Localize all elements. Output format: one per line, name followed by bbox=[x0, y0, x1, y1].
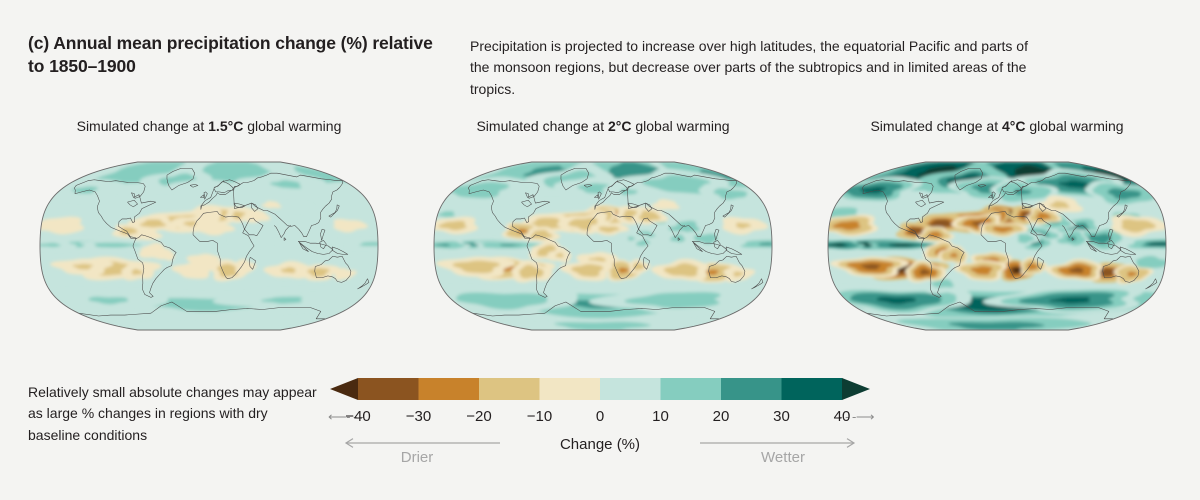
map-subtitle: Simulated change at 2°C global warming bbox=[412, 116, 794, 136]
colorbar-tick-label: 0 bbox=[596, 408, 604, 425]
colorbar-band bbox=[540, 378, 601, 400]
map-subtitle-prefix: Simulated change at bbox=[77, 118, 209, 134]
map-panel-4c: Simulated change at 4°C global warming bbox=[806, 116, 1188, 352]
map-globe-4c bbox=[808, 142, 1186, 352]
map-warming-level: 4°C bbox=[1002, 118, 1026, 134]
colorbar-band bbox=[358, 378, 419, 400]
colorbar-tick-label: −20 bbox=[466, 408, 491, 425]
colorbar-tick-label: −40 bbox=[345, 408, 370, 425]
map-field bbox=[414, 142, 792, 352]
colorbar-swatches bbox=[330, 372, 870, 406]
map-subtitle-prefix: Simulated change at bbox=[870, 118, 1002, 134]
direction-label-drier: Drier bbox=[332, 449, 502, 466]
figure-description: Precipitation is projected to increase o… bbox=[470, 36, 1030, 100]
map-globe-1p5c bbox=[20, 142, 398, 352]
map-subtitle-suffix: global warming bbox=[243, 118, 341, 134]
map-warming-level: 1.5°C bbox=[208, 118, 243, 134]
page-title: (c) Annual mean precipitation change (%)… bbox=[28, 32, 448, 78]
colorbar-tick-label: 10 bbox=[652, 408, 669, 425]
colorbar-band bbox=[600, 378, 661, 400]
colorbar-band bbox=[782, 378, 843, 400]
map-warming-level: 2°C bbox=[608, 118, 632, 134]
direction-indicator-wetter: Wetter bbox=[698, 438, 868, 466]
map-subtitle-suffix: global warming bbox=[631, 118, 729, 134]
arrow-left-icon bbox=[332, 438, 502, 448]
map-panel-2c: Simulated change at 2°C global warming bbox=[412, 116, 794, 352]
figure-ipcc-precipitation-change: (c) Annual mean precipitation change (%)… bbox=[0, 0, 1200, 500]
colorbar-tick-label: 40 bbox=[834, 408, 851, 425]
map-subtitle: Simulated change at 4°C global warming bbox=[806, 116, 1188, 136]
colorbar-footer: Drier Change (%) Wetter bbox=[330, 436, 870, 478]
map-panel-1p5c: Simulated change at 1.5°C global warming bbox=[18, 116, 400, 352]
colorbar-tick-label: 30 bbox=[773, 408, 790, 425]
colorbar-tick-label: 20 bbox=[713, 408, 730, 425]
direction-indicator-drier: Drier bbox=[332, 438, 502, 466]
colorbar-band bbox=[479, 378, 540, 400]
map-globe-2c bbox=[414, 142, 792, 352]
colorbar-tick-labels: ⟵- - - - - -⟶ −40−30−20−10010203040 bbox=[330, 408, 870, 432]
direction-label-wetter: Wetter bbox=[698, 449, 868, 466]
colorbar-band bbox=[419, 378, 480, 400]
colorbar-band bbox=[721, 378, 782, 400]
colorbar-axis-label: Change (%) bbox=[560, 436, 640, 453]
colorbar: ⟵- - - - - -⟶ −40−30−20−10010203040 Drie… bbox=[330, 372, 870, 478]
colorbar-band bbox=[661, 378, 722, 400]
map-field bbox=[808, 142, 1186, 352]
colorbar-tick-label: −10 bbox=[527, 408, 552, 425]
colorbar-extend-high bbox=[842, 378, 870, 400]
map-field bbox=[20, 142, 398, 352]
colorbar-extend-low bbox=[330, 378, 358, 400]
colorbar-tick-label: −30 bbox=[406, 408, 431, 425]
colorbar-note: Relatively small absolute changes may ap… bbox=[28, 382, 318, 446]
map-subtitle-prefix: Simulated change at bbox=[476, 118, 608, 134]
arrow-right-icon bbox=[698, 438, 868, 448]
map-subtitle-suffix: global warming bbox=[1025, 118, 1123, 134]
map-subtitle: Simulated change at 1.5°C global warming bbox=[18, 116, 400, 136]
